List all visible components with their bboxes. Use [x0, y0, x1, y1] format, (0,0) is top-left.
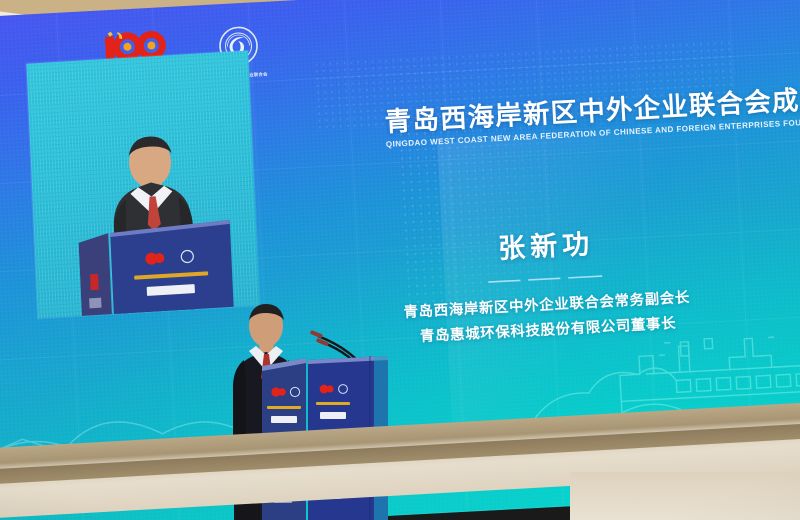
conference-photo-scene: 庆祝中国共产党成立100周年 1921 - 2021 西海岸新区中外企业联合会 [0, 0, 800, 520]
live-camera-feed-panel [26, 51, 259, 319]
stage-floor-front [570, 472, 800, 520]
speaker-name-text: 张新功 [497, 222, 595, 266]
